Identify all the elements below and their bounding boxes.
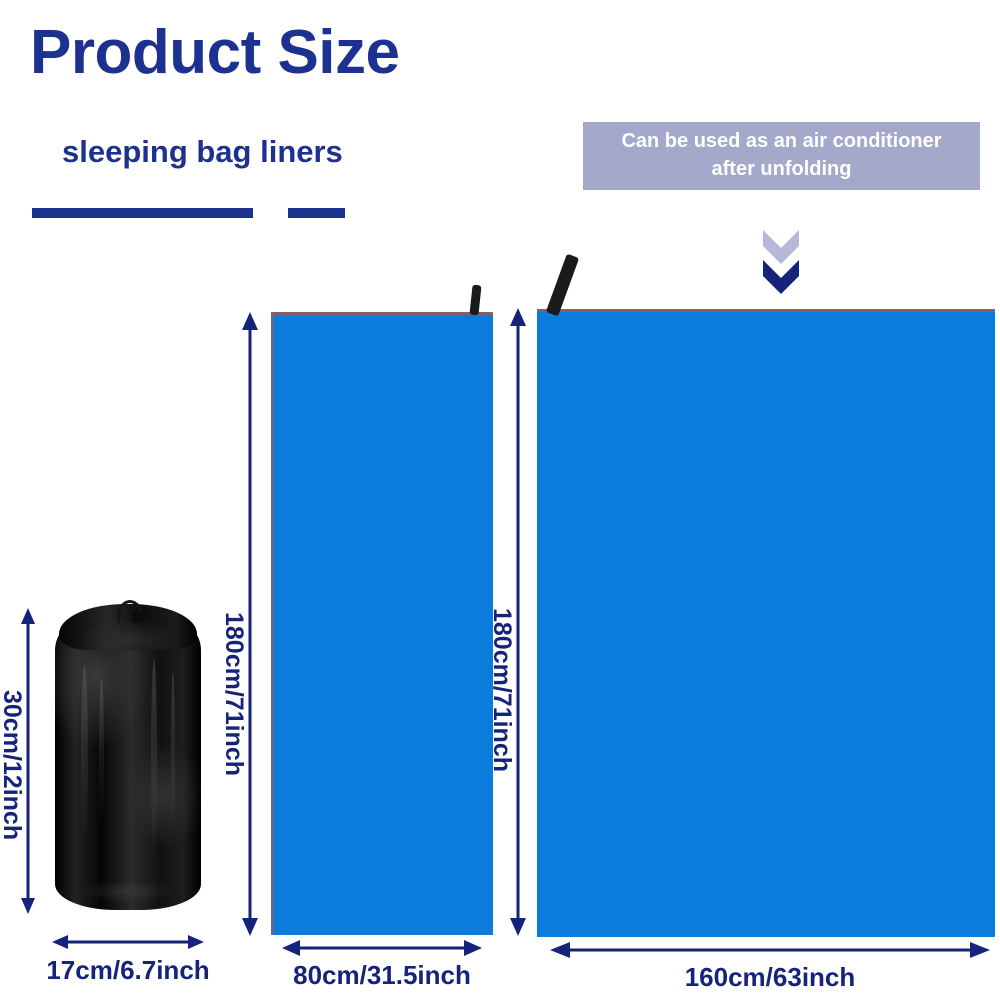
stuff-sack-width-arrow — [52, 932, 204, 957]
drawstring-toggle-icon — [132, 611, 143, 623]
stuff-sack-height-label: 30cm/12inch — [0, 690, 26, 840]
feature-banner-line-1: Can be used as an air conditioner — [621, 128, 941, 156]
folded-liner-height-label: 180cm/71inch — [219, 612, 248, 776]
unfolded-liner-height-label: 180cm/71inch — [487, 608, 516, 772]
stuff-sack-crease — [151, 660, 157, 860]
stuff-sack-crease — [99, 678, 104, 828]
stuff-sack-width-label: 17cm/6.7inch — [8, 955, 248, 986]
stuff-sack-crease — [171, 672, 175, 832]
page-title: Product Size — [30, 22, 400, 84]
title-rule-short — [288, 208, 345, 218]
page-subtitle: sleeping bag liners — [62, 134, 343, 170]
folded-liner-rect — [271, 312, 493, 935]
stuff-sack-body — [55, 610, 201, 910]
stuff-sack-image — [55, 600, 201, 910]
chevron-down-icon — [757, 228, 805, 296]
stuff-sack-base-shadow — [61, 882, 195, 908]
stuff-sack-crease — [81, 666, 88, 846]
strap-tab-icon — [546, 254, 579, 317]
unfolded-liner-top-seam — [537, 309, 995, 312]
feature-banner: Can be used as an air conditioner after … — [583, 122, 980, 190]
unfolded-liner-rect — [537, 309, 995, 937]
zipper-pull-icon — [469, 285, 481, 316]
title-rule-long — [32, 208, 253, 218]
unfolded-liner-width-label: 160cm/63inch — [550, 962, 990, 993]
folded-liner-width-label: 80cm/31.5inch — [262, 960, 502, 991]
product-size-infographic: Product Size sleeping bag liners Can be … — [0, 0, 1000, 1000]
feature-banner-line-2: after unfolding — [712, 156, 852, 184]
folded-liner-top-seam — [271, 312, 493, 315]
folded-liner-left-seam — [271, 312, 274, 935]
